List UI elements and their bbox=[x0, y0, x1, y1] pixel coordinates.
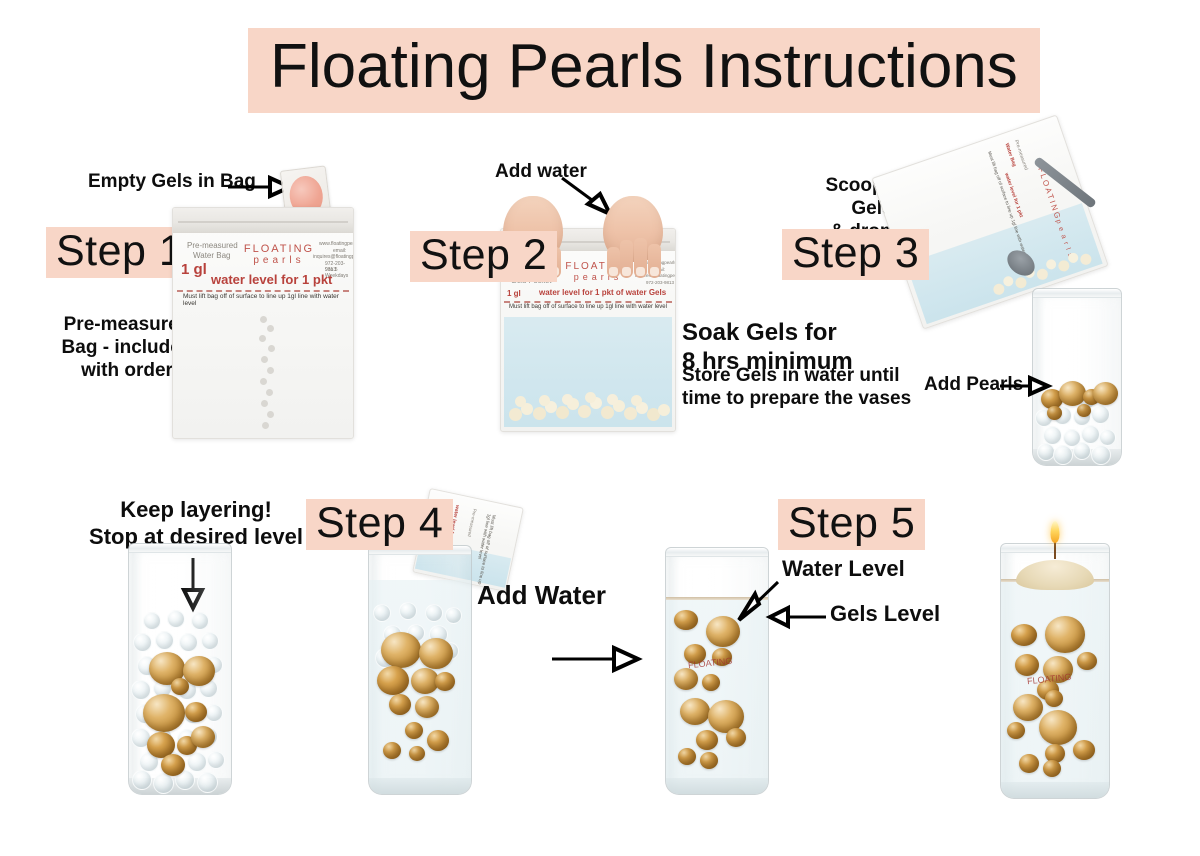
vase-rim bbox=[665, 548, 769, 557]
bag-label-volume: 1 gl bbox=[507, 290, 521, 298]
bag-seam-dots bbox=[257, 316, 279, 436]
step-5-label: Step 5 bbox=[778, 499, 925, 550]
bag-phone: 972-203-9813 bbox=[646, 280, 674, 285]
infographic-page: Floating Pearls Instructions Empty Gels … bbox=[0, 0, 1200, 856]
arrow-left-icon bbox=[768, 606, 828, 628]
bag-dash-line bbox=[504, 301, 671, 303]
step4-layered-vase bbox=[128, 543, 232, 795]
bag-dash-line bbox=[177, 290, 350, 292]
step2-soak-note: Store Gels in water until time to prepar… bbox=[682, 364, 911, 410]
bag-brand: FLOATING pearls bbox=[239, 243, 319, 266]
step4-callout-add-water: Add Water bbox=[477, 580, 606, 612]
right-hand bbox=[603, 196, 663, 262]
bag-brand-line1: FLOATING bbox=[239, 243, 319, 255]
step-3-label: Step 3 bbox=[782, 229, 929, 280]
vase-rim bbox=[128, 544, 232, 553]
step1-water-bag: Pre-measured Water Bag 1 gl FLOATING pea… bbox=[172, 207, 354, 439]
bag-gel-beads bbox=[507, 387, 669, 421]
bag-label-water-bag: Water Bag bbox=[193, 252, 231, 261]
flame-icon bbox=[1051, 521, 1060, 543]
candle-wick bbox=[1054, 541, 1056, 559]
bag-water-level-line-gels: water level for 1 pkt of water Gels bbox=[539, 289, 666, 297]
floating-candle bbox=[1016, 560, 1094, 590]
vase-gel-layer bbox=[369, 594, 471, 794]
bag-brand-line2: pearls bbox=[239, 255, 319, 266]
page-title: Floating Pearls Instructions bbox=[248, 28, 1040, 113]
bag-label-pre-measured: Pre-measured bbox=[466, 508, 477, 537]
arrow-right-icon bbox=[552, 645, 642, 673]
vase-rim bbox=[1032, 289, 1122, 298]
final-candle-vase: FLOATING bbox=[1000, 543, 1110, 799]
bag-water-level-line: water level for 1 pkt bbox=[211, 273, 332, 287]
bag-email: inquires@floatingpearls.com bbox=[313, 254, 354, 260]
bag-label-pre-measured: Pre-measured bbox=[187, 242, 238, 251]
bag-url: www.floatingpearls.com bbox=[319, 241, 354, 247]
bag-zip-top bbox=[173, 208, 353, 233]
step5-callout-water-level: Water Level bbox=[782, 556, 905, 583]
step4-water-vase bbox=[368, 545, 472, 795]
bag-fine-print: Must lift bag off of surface to line up … bbox=[509, 304, 667, 310]
bag-label-pre-measured: Pre-measured bbox=[1012, 140, 1028, 172]
step5-callout-gels-level: Gels Level bbox=[830, 601, 940, 628]
bag-fine-print: Must lift bag off of surface to line up … bbox=[183, 293, 353, 307]
bag-label-volume: 1 gl bbox=[181, 262, 207, 278]
step-4-label: Step 4 bbox=[306, 499, 453, 550]
arrow-right-icon bbox=[1000, 376, 1050, 396]
step-2-label: Step 2 bbox=[410, 231, 557, 282]
